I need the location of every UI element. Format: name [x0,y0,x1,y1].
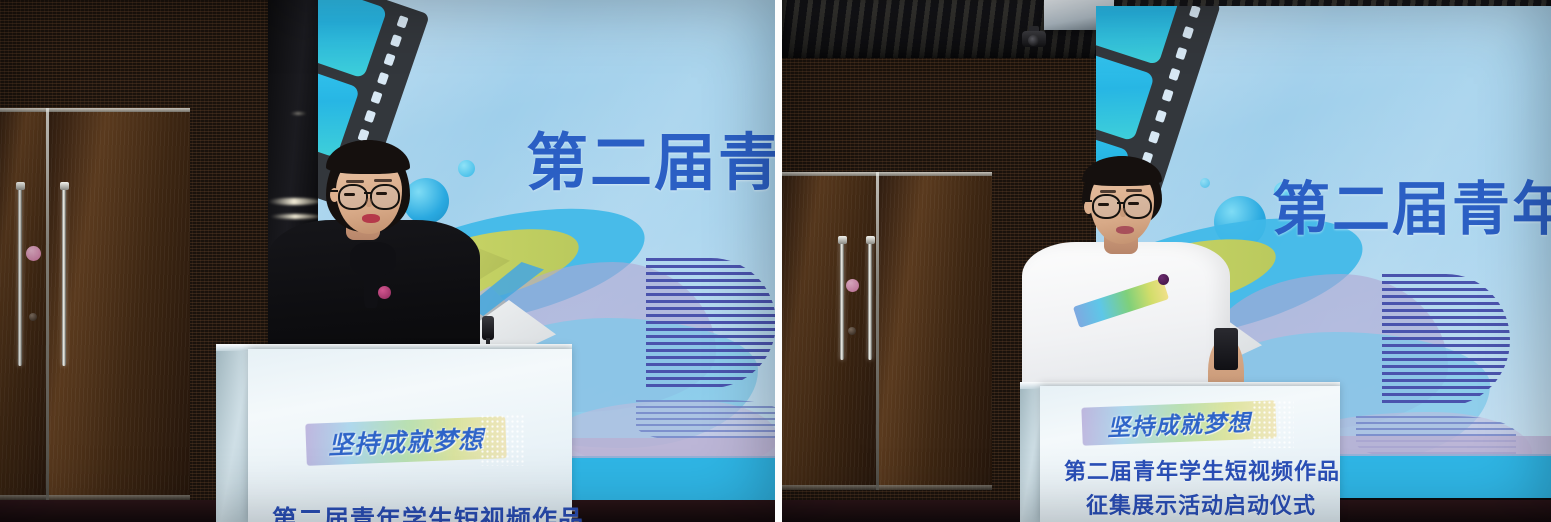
screen-title-left: 第二届青 [526,112,775,202]
speaker-eye-left [344,193,355,196]
door-split-line [876,172,879,490]
right-door-assembly [782,172,992,490]
door-bottom-trim [782,485,992,490]
speaker-bow-tail [364,266,378,308]
podium-line-1: 第二届青年学生短视频作品 [1064,454,1340,486]
podium-line-1: 第二届青年学生短视频作品 [272,500,584,522]
door-handle-cap-left [838,236,847,244]
glasses-temple [330,190,338,192]
door-top-trim [0,108,190,112]
door-handle-cap-right [866,236,875,244]
speaker-mouth [362,214,380,223]
door-leaf-right [879,172,992,490]
door-handle-right[interactable] [868,240,872,360]
podium-dot-pattern [480,414,524,466]
door-lock-icon [29,313,37,321]
panel-divider [775,0,782,522]
door-handle-cap-left [16,182,25,190]
door-sticker-icon [846,279,859,292]
door-handle-right[interactable] [62,186,66,366]
podium-line-2: 征集展示活动启动仪式 [1086,488,1316,520]
speaker-nose [1120,208,1126,217]
door-handle-left[interactable] [840,240,844,360]
podium-calligraphy-text: 坚持成就梦想 [327,420,484,462]
speaker-wristwatch [1214,328,1238,370]
speaker-eye-right [1128,202,1139,205]
speaker-eye-right [376,192,387,195]
door-split-line [46,108,49,500]
speaker-mouth [1116,226,1134,234]
door-leaf-left [782,172,876,490]
speaker-brow-right [374,179,392,182]
security-camera-icon [1019,26,1049,50]
halftone-stripe-lower [636,400,775,442]
speaker-nose [366,198,372,207]
door-lock-icon [848,327,856,335]
speaker-shirt-badge [1158,274,1169,285]
pillar-reflection-3 [290,112,306,115]
speaker-brow-right [1126,189,1142,192]
podium-calligraphy-band: 坚持成就梦想 [305,416,506,466]
glasses-temple [1084,200,1092,202]
glasses-lens-right [1123,194,1152,219]
right-podium: 坚持成就梦想 第二届青年学生短视频作品 征集展示活动启动仪式 [1020,382,1340,522]
door-sticker-icon [26,246,41,261]
left-photo-panel: 第二届青 [0,0,775,522]
door-handle-left[interactable] [18,186,22,366]
podium-calligraphy-band: 坚持成就梦想 [1081,400,1276,445]
glasses-lens-left [1092,194,1121,219]
speaker-eye-left [1098,203,1109,206]
door-top-trim [782,172,992,176]
camera-lens [1028,35,1039,46]
halftone-stripe-block [1382,274,1510,406]
podium-left-side [1020,382,1042,522]
speaker-brow-left [1100,190,1116,193]
glasses-bridge [1117,202,1124,204]
halftone-stripe-block [646,258,775,388]
right-speaker [1018,150,1248,400]
door-handle-cap-right [60,182,69,190]
left-speaker [268,138,488,368]
left-podium: 坚持成就梦想 第二届青年学生短视频作品 [216,344,572,522]
podium-calligraphy-text: 坚持成就梦想 [1106,403,1251,443]
right-photo-panel: 第二届青年 第二届青年 [782,0,1551,522]
speaker-hair-front [326,140,410,174]
glasses-lens-right [370,184,400,210]
door-leaf-left [0,108,46,500]
photo-pair-stage: 第二届青 [0,0,1551,522]
glasses-bridge [364,192,372,194]
glasses-lens-left [338,184,368,210]
speaker-hair-front [1082,156,1162,186]
podium-dot-pattern [1252,400,1294,448]
speaker-brow-left [346,180,364,183]
left-door-assembly [0,108,190,500]
screen-title-right-visible: 第二届青年 [1272,162,1551,246]
podium-left-side [216,344,250,522]
door-leaf-right [49,108,190,500]
speaker-badge [378,286,391,299]
